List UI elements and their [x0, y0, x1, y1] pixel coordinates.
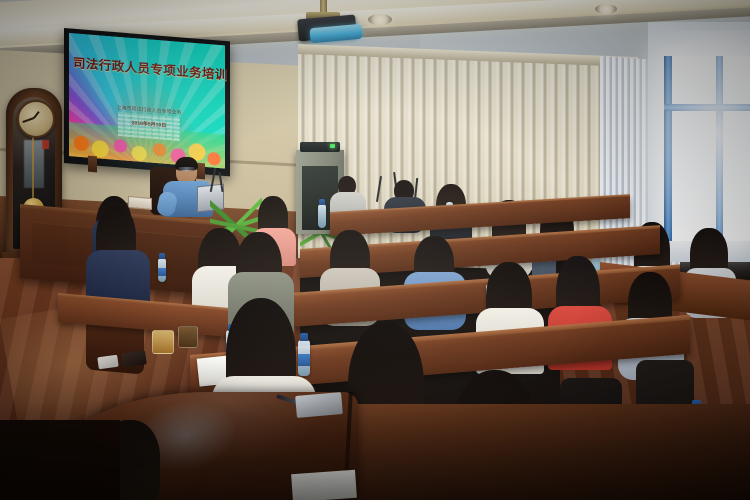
screen-support-post [88, 156, 97, 173]
downlight-icon [595, 4, 617, 14]
downlight-icon [368, 14, 392, 25]
clock-face [17, 100, 55, 138]
clock-tag [42, 140, 49, 149]
foreground-shadow [0, 420, 120, 500]
foreground-table-right [330, 404, 750, 500]
tablet-device [295, 392, 343, 418]
conference-room-photo: 司法行政人员专项业务培训 上海市司法行政人员专项业务 2016年5月10日 [0, 0, 750, 500]
bottle-label [298, 354, 310, 366]
clock-pendulum-rod [32, 136, 34, 204]
notepad [291, 470, 357, 500]
eyeglasses-icon [178, 167, 195, 171]
bottle-cap [159, 253, 165, 259]
bottle-label [158, 268, 166, 276]
tea-glass [152, 330, 174, 354]
status-led-icon [330, 144, 335, 148]
bottled-water [318, 204, 326, 228]
podium-nameplate [128, 196, 152, 210]
bottle-cap [319, 199, 325, 205]
tea-glass [178, 326, 198, 348]
bottle-cap [300, 333, 308, 341]
clock-weights [24, 140, 44, 188]
